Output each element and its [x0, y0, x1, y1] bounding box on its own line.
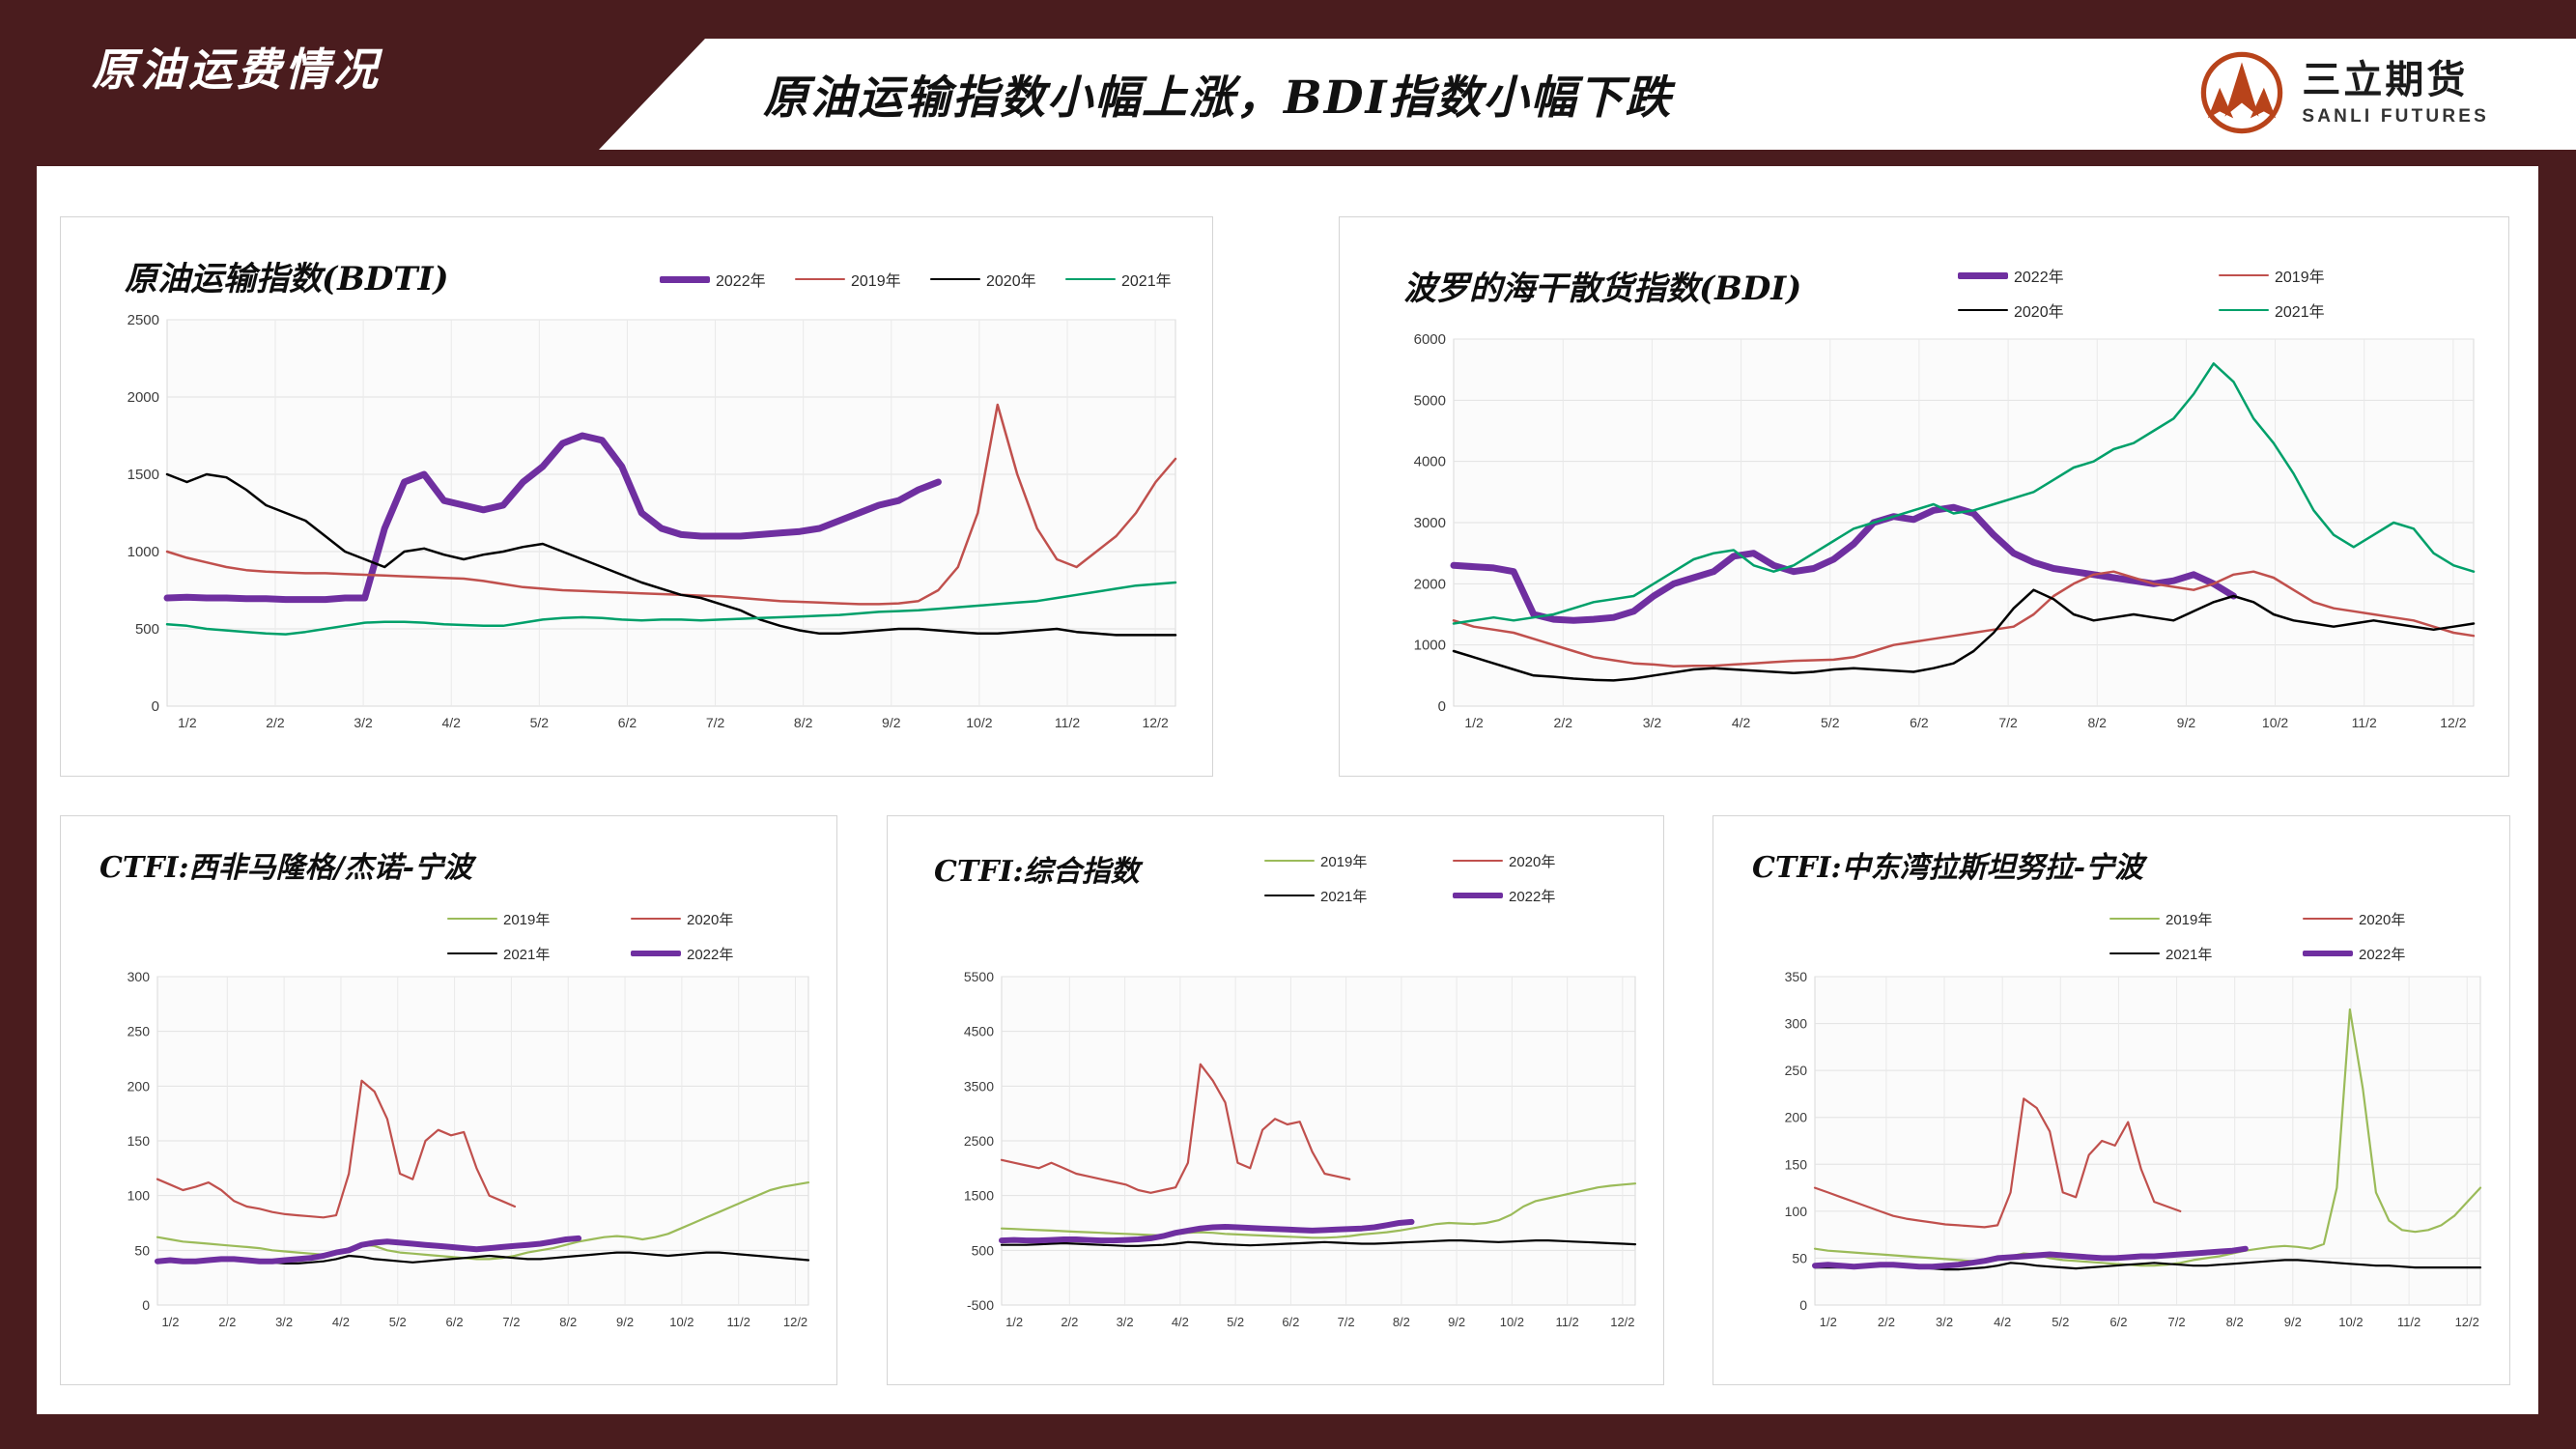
svg-text:6/2: 6/2: [1910, 715, 1929, 730]
header-section-label: 原油运费情况: [92, 35, 382, 99]
svg-text:9/2: 9/2: [1448, 1315, 1465, 1329]
chart-plot-ctfi-xifei: 0501001502002503001/22/23/24/25/26/27/28…: [109, 971, 814, 1338]
svg-text:3/2: 3/2: [1643, 715, 1662, 730]
chart-title-ctfi-zhongdong: CTFI:中东湾拉斯坦努拉-宁波: [1752, 843, 2143, 886]
svg-text:100: 100: [127, 1188, 151, 1204]
legend-swatch-icon: [930, 278, 980, 281]
legend-swatch-icon: [2109, 952, 2160, 954]
svg-text:9/2: 9/2: [2177, 715, 2196, 730]
chart-panel-ctfi-composite: CTFI:综合指数2019年2020年2021年2022年-5005001500…: [887, 815, 1664, 1385]
svg-text:2/2: 2/2: [218, 1315, 236, 1329]
legend-item-2021年[interactable]: 2021年: [1065, 262, 1201, 297]
legend-swatch-icon: [1065, 278, 1116, 281]
svg-text:10/2: 10/2: [2338, 1315, 2363, 1329]
svg-text:250: 250: [127, 1024, 151, 1039]
header-banner: 原油运输指数小幅上涨，BDI指数小幅下跌 三立期货 SANLI FUTURES: [599, 39, 2576, 150]
legend-label: 2021年: [503, 944, 550, 964]
svg-text:0: 0: [142, 1297, 150, 1313]
chart-panel-bdi: 波罗的海干散货指数(BDI)2022年2019年2020年2021年010002…: [1339, 216, 2509, 777]
svg-text:2/2: 2/2: [1061, 1315, 1078, 1329]
legend-item-2022年[interactable]: 2022年: [631, 936, 814, 971]
svg-text:1/2: 1/2: [178, 715, 197, 730]
legend-item-2022年[interactable]: 2022年: [1453, 878, 1641, 913]
svg-text:10/2: 10/2: [669, 1315, 694, 1329]
svg-text:4/2: 4/2: [1172, 1315, 1189, 1329]
svg-text:1000: 1000: [1414, 638, 1446, 654]
legend-swatch-icon: [447, 952, 497, 954]
legend-swatch-icon: [1958, 272, 2008, 279]
svg-text:9/2: 9/2: [2284, 1315, 2302, 1329]
svg-text:10/2: 10/2: [2262, 715, 2288, 730]
svg-text:5/2: 5/2: [1821, 715, 1840, 730]
svg-text:9/2: 9/2: [882, 715, 901, 730]
svg-text:2000: 2000: [1414, 576, 1446, 592]
legend-label: 2019年: [1320, 851, 1367, 871]
svg-text:1500: 1500: [127, 467, 159, 483]
svg-text:6/2: 6/2: [1282, 1315, 1299, 1329]
legend-item-2021年[interactable]: 2021年: [2219, 293, 2479, 327]
legend-swatch-icon: [1264, 860, 1315, 862]
legend-swatch-icon: [631, 918, 681, 920]
legend-swatch-icon: [2303, 918, 2353, 920]
svg-text:350: 350: [1785, 969, 1808, 984]
chart-plot-ctfi-composite: -500500150025003500450055001/22/23/24/25…: [946, 971, 1641, 1338]
svg-text:4/2: 4/2: [1994, 1315, 2011, 1329]
svg-text:6/2: 6/2: [2109, 1315, 2127, 1329]
mountain-logo-icon: [2199, 50, 2284, 135]
svg-text:4500: 4500: [964, 1024, 994, 1039]
legend-swatch-icon: [795, 278, 845, 281]
brand-text: 三立期货 SANLI FUTURES: [2302, 61, 2489, 126]
svg-text:7/2: 7/2: [1338, 1315, 1355, 1329]
chart-plot-bdti: 050010001500200025001/22/23/24/25/26/27/…: [119, 314, 1181, 739]
legend-item-2020年[interactable]: 2020年: [1453, 843, 1641, 878]
chart-title-bdti: 原油运输指数(BDTI): [125, 252, 449, 299]
chart-legend-bdti: 2022年2019年2020年2021年: [660, 262, 1201, 297]
svg-text:7/2: 7/2: [1998, 715, 2018, 730]
svg-text:5/2: 5/2: [2052, 1315, 2069, 1329]
svg-text:6/2: 6/2: [618, 715, 637, 730]
legend-item-2020年[interactable]: 2020年: [930, 262, 1065, 297]
svg-text:11/2: 11/2: [2352, 715, 2377, 730]
legend-swatch-icon: [631, 951, 681, 956]
svg-text:-500: -500: [967, 1297, 994, 1313]
legend-label: 2019年: [2166, 909, 2212, 929]
brand-name-en: SANLI FUTURES: [2302, 107, 2489, 126]
chart-legend-bdi: 2022年2019年2020年2021年: [1958, 258, 2479, 327]
svg-text:12/2: 12/2: [2455, 1315, 2479, 1329]
legend-item-2019年[interactable]: 2019年: [2109, 901, 2303, 936]
chart-panel-ctfi-xifei: CTFI:西非马隆格/杰诺-宁波2019年2020年2021年2022年0501…: [60, 815, 837, 1385]
legend-item-2022年[interactable]: 2022年: [1958, 258, 2219, 293]
legend-label: 2020年: [2359, 909, 2405, 929]
svg-text:12/2: 12/2: [783, 1315, 807, 1329]
slide-header: 原油运费情况 原油运输指数小幅上涨，BDI指数小幅下跌 三立期货 SANLI F…: [0, 0, 2576, 155]
legend-item-2021年[interactable]: 2021年: [1264, 878, 1453, 913]
svg-text:8/2: 8/2: [794, 715, 813, 730]
slide-body: 原油运输指数(BDTI)2022年2019年2020年2021年05001000…: [37, 166, 2538, 1414]
chart-title-bdi: 波罗的海干散货指数(BDI): [1403, 262, 1801, 309]
svg-text:4/2: 4/2: [441, 715, 461, 730]
svg-text:3000: 3000: [1414, 515, 1446, 531]
legend-label: 2021年: [2275, 298, 2325, 322]
svg-text:150: 150: [1785, 1156, 1808, 1172]
svg-text:5000: 5000: [1414, 392, 1446, 409]
legend-label: 2022年: [2359, 944, 2405, 964]
svg-text:8/2: 8/2: [2088, 715, 2108, 730]
svg-text:100: 100: [1785, 1204, 1808, 1219]
svg-text:1/2: 1/2: [161, 1315, 179, 1329]
svg-text:5500: 5500: [964, 969, 994, 984]
svg-text:200: 200: [1785, 1110, 1808, 1125]
legend-label: 2020年: [687, 909, 733, 929]
svg-text:7/2: 7/2: [2168, 1315, 2186, 1329]
page-title: 原油运输指数小幅上涨，BDI指数小幅下跌: [763, 60, 1672, 127]
svg-text:8/2: 8/2: [1393, 1315, 1410, 1329]
svg-text:6000: 6000: [1414, 331, 1446, 348]
svg-text:1/2: 1/2: [1820, 1315, 1837, 1329]
svg-text:300: 300: [1785, 1016, 1808, 1032]
legend-item-2019年[interactable]: 2019年: [795, 262, 930, 297]
svg-text:250: 250: [1785, 1063, 1808, 1078]
svg-text:11/2: 11/2: [727, 1315, 750, 1329]
legend-label: 2020年: [986, 268, 1036, 291]
legend-item-2019年[interactable]: 2019年: [1264, 843, 1453, 878]
legend-label: 2022年: [716, 268, 766, 291]
svg-text:0: 0: [1438, 698, 1446, 715]
svg-text:50: 50: [1792, 1250, 1807, 1265]
legend-label: 2021年: [1121, 268, 1172, 291]
legend-label: 2019年: [2275, 264, 2325, 287]
svg-text:1000: 1000: [127, 544, 159, 560]
svg-text:3500: 3500: [964, 1078, 994, 1094]
svg-text:0: 0: [152, 698, 159, 715]
svg-text:2000: 2000: [127, 389, 159, 406]
chart-legend-ctfi-zhongdong: 2019年2020年2021年2022年: [2109, 901, 2496, 971]
svg-text:2500: 2500: [127, 312, 159, 328]
svg-text:3/2: 3/2: [354, 715, 373, 730]
legend-item-2021年[interactable]: 2021年: [447, 936, 631, 971]
svg-text:11/2: 11/2: [1555, 1315, 1578, 1329]
legend-swatch-icon: [2219, 309, 2269, 312]
svg-text:4/2: 4/2: [1732, 715, 1751, 730]
svg-text:11/2: 11/2: [1055, 715, 1080, 730]
svg-text:11/2: 11/2: [2397, 1315, 2420, 1329]
legend-swatch-icon: [1453, 893, 1503, 898]
legend-swatch-icon: [660, 276, 710, 283]
chart-title-ctfi-composite: CTFI:综合指数: [934, 847, 1140, 890]
legend-swatch-icon: [447, 918, 497, 920]
legend-label: 2020年: [1509, 851, 1555, 871]
legend-label: 2022年: [687, 944, 733, 964]
legend-swatch-icon: [2109, 918, 2160, 920]
svg-text:10/2: 10/2: [1500, 1315, 1524, 1329]
legend-swatch-icon: [1264, 895, 1315, 896]
svg-text:7/2: 7/2: [706, 715, 725, 730]
svg-text:6/2: 6/2: [446, 1315, 464, 1329]
svg-text:2/2: 2/2: [1878, 1315, 1895, 1329]
legend-label: 2019年: [851, 268, 901, 291]
svg-text:12/2: 12/2: [2440, 715, 2466, 730]
legend-item-2021年[interactable]: 2021年: [2109, 936, 2303, 971]
svg-text:0: 0: [1799, 1297, 1807, 1313]
svg-text:3/2: 3/2: [1117, 1315, 1134, 1329]
svg-text:8/2: 8/2: [559, 1315, 577, 1329]
chart-plot-ctfi-zhongdong: 0501001502002503003501/22/23/24/25/26/27…: [1767, 971, 2486, 1338]
svg-text:150: 150: [127, 1133, 151, 1149]
legend-label: 2022年: [1509, 886, 1555, 906]
svg-text:8/2: 8/2: [2226, 1315, 2244, 1329]
legend-swatch-icon: [2303, 951, 2353, 956]
chart-title-ctfi-xifei: CTFI:西非马隆格/杰诺-宁波: [99, 843, 472, 886]
legend-item-2020年[interactable]: 2020年: [1958, 293, 2219, 327]
svg-text:300: 300: [127, 969, 151, 984]
brand-logo: 三立期货 SANLI FUTURES: [2199, 50, 2489, 135]
chart-legend-ctfi-xifei: 2019年2020年2021年2022年: [447, 901, 814, 971]
slide-root: 原油运费情况 原油运输指数小幅上涨，BDI指数小幅下跌 三立期货 SANLI F…: [0, 0, 2576, 1449]
legend-item-2019年[interactable]: 2019年: [447, 901, 631, 936]
legend-item-2020年[interactable]: 2020年: [2303, 901, 2496, 936]
legend-label: 2020年: [2014, 298, 2064, 322]
svg-text:2/2: 2/2: [266, 715, 285, 730]
svg-text:5/2: 5/2: [530, 715, 550, 730]
svg-text:4/2: 4/2: [332, 1315, 350, 1329]
legend-item-2020年[interactable]: 2020年: [631, 901, 814, 936]
svg-text:2500: 2500: [964, 1133, 994, 1149]
legend-item-2022年[interactable]: 2022年: [2303, 936, 2496, 971]
legend-label: 2022年: [2014, 264, 2064, 287]
chart-legend-ctfi-composite: 2019年2020年2021年2022年: [1264, 843, 1641, 913]
svg-text:4000: 4000: [1414, 454, 1446, 470]
svg-text:7/2: 7/2: [502, 1315, 520, 1329]
svg-text:1500: 1500: [964, 1188, 994, 1204]
brand-name-cn: 三立期货: [2302, 61, 2489, 99]
svg-text:500: 500: [972, 1242, 995, 1258]
legend-item-2019年[interactable]: 2019年: [2219, 258, 2479, 293]
svg-text:10/2: 10/2: [966, 715, 992, 730]
svg-text:1/2: 1/2: [1005, 1315, 1023, 1329]
svg-text:5/2: 5/2: [389, 1315, 407, 1329]
svg-text:200: 200: [127, 1078, 151, 1094]
legend-label: 2021年: [2166, 944, 2212, 964]
legend-swatch-icon: [1453, 860, 1503, 862]
legend-label: 2019年: [503, 909, 550, 929]
svg-text:12/2: 12/2: [1142, 715, 1168, 730]
svg-text:12/2: 12/2: [1610, 1315, 1634, 1329]
legend-item-2022年[interactable]: 2022年: [660, 262, 795, 297]
svg-text:3/2: 3/2: [275, 1315, 293, 1329]
chart-panel-ctfi-zhongdong: CTFI:中东湾拉斯坦努拉-宁波2019年2020年2021年2022年0501…: [1713, 815, 2510, 1385]
chart-plot-bdi: 01000200030004000500060001/22/23/24/25/2…: [1398, 333, 2479, 739]
svg-text:50: 50: [134, 1242, 150, 1258]
legend-swatch-icon: [1958, 309, 2008, 312]
svg-text:2/2: 2/2: [1554, 715, 1573, 730]
svg-text:3/2: 3/2: [1936, 1315, 1953, 1329]
chart-panel-bdti: 原油运输指数(BDTI)2022年2019年2020年2021年05001000…: [60, 216, 1213, 777]
svg-text:9/2: 9/2: [616, 1315, 634, 1329]
svg-text:1/2: 1/2: [1464, 715, 1484, 730]
legend-label: 2021年: [1320, 886, 1367, 906]
svg-text:5/2: 5/2: [1227, 1315, 1244, 1329]
svg-text:500: 500: [135, 621, 159, 638]
legend-swatch-icon: [2219, 274, 2269, 277]
